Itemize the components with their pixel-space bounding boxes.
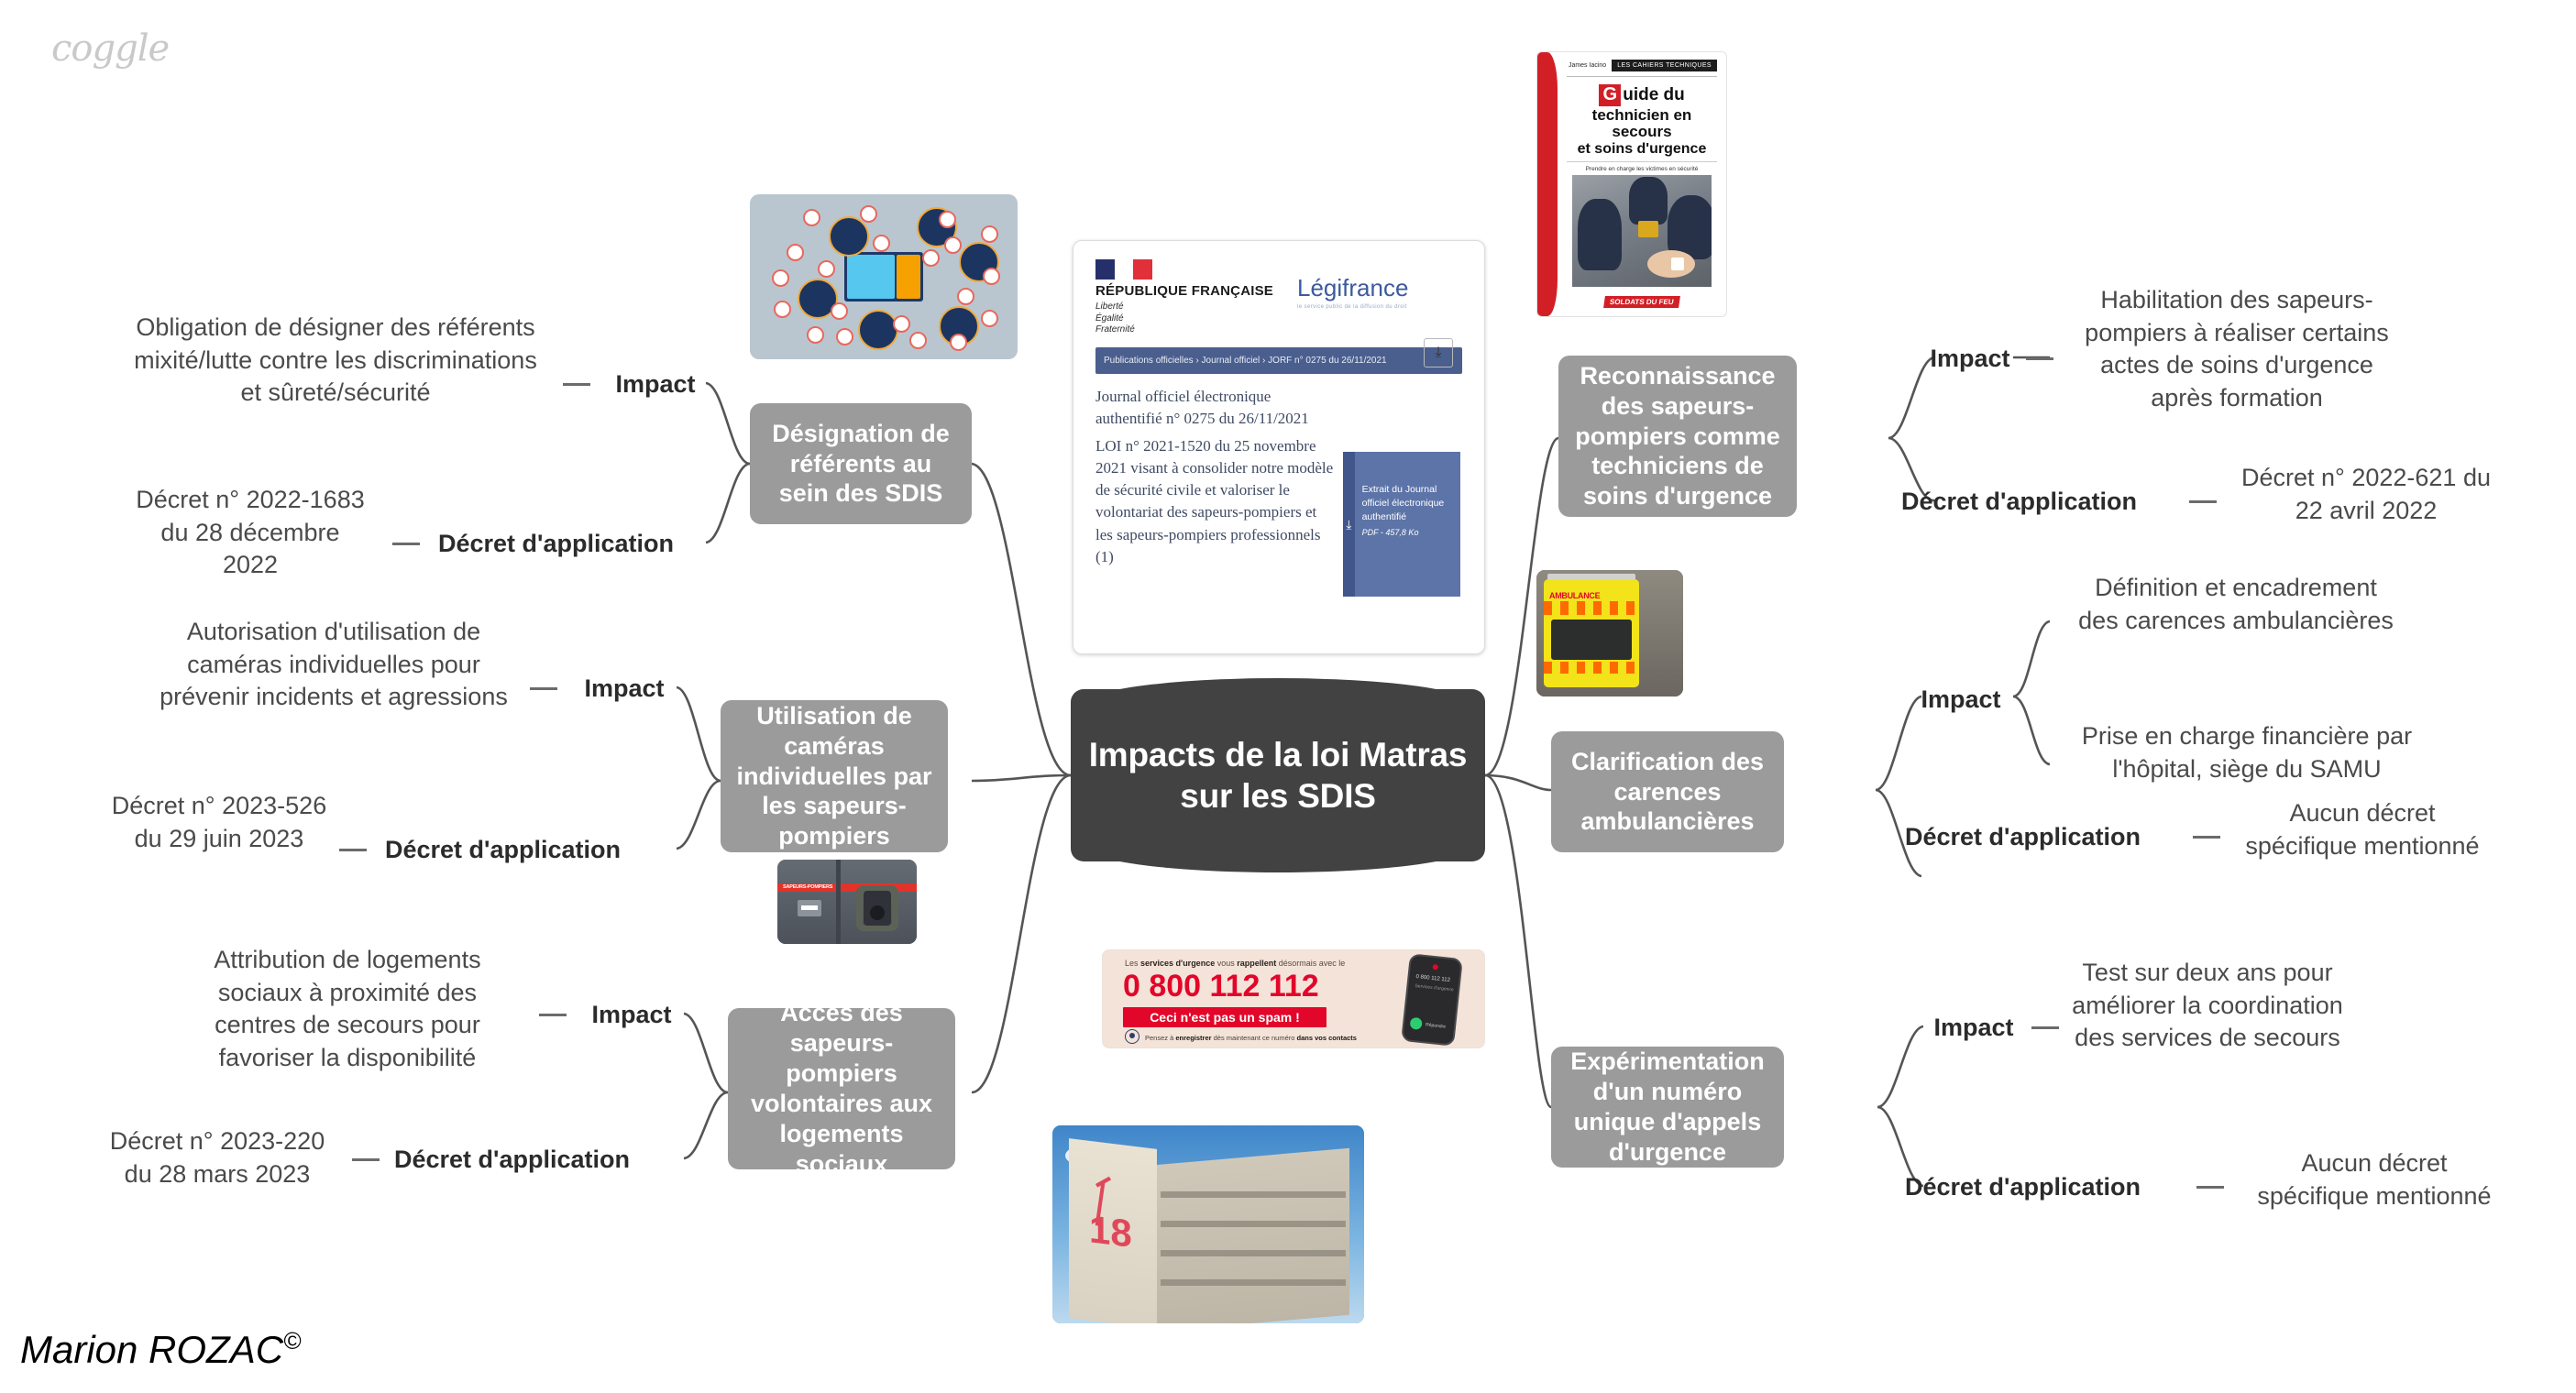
banner-note-b: enregistrer (1175, 1034, 1211, 1042)
left2-impact-dash (530, 687, 557, 690)
bodycam-image: SAPEURS-POMPIERS (777, 860, 917, 944)
topic-label: Désignation de référents au sein des SDI… (763, 419, 959, 510)
left1-decret-label-text: Décret d'application (438, 530, 674, 557)
banner-note-c: dès maintenant ce numéro (1212, 1034, 1297, 1042)
topic-designation-referents[interactable]: Désignation de référents au sein des SDI… (750, 403, 972, 524)
topic-label: Expérimentation d'un numéro unique d'app… (1564, 1047, 1771, 1168)
right3-impact-label: Impact (1923, 1012, 2024, 1045)
left2-impact-text: Autorisation d'utilisation de caméras in… (156, 616, 512, 714)
author-signature: Marion ROZAC© (20, 1327, 301, 1372)
right1-decret-dash (2189, 500, 2217, 503)
left1-decret-dash (392, 543, 420, 545)
banner-top-text: Les services d'urgence vous rappellent d… (1125, 959, 1345, 968)
right2-impact-text-1-value: Définition et encadrement des carences a… (2078, 574, 2394, 634)
right3-decret-label: Décret d'application (1905, 1171, 2180, 1204)
book-title-line2: technicien en secours (1567, 107, 1717, 141)
banner-phone-number: 0 800 112 112 (1123, 969, 1319, 1004)
banner-note: Pensez à enregistrer dès maintenant ce n… (1145, 1034, 1357, 1042)
pdf-download-card[interactable]: ⤓ Extrait du Journal officiel électroniq… (1343, 452, 1460, 597)
banner-top-c: vous (1215, 959, 1237, 968)
ambulance-image: AMBULANCE (1536, 570, 1683, 696)
left3-decret-dash (352, 1158, 380, 1161)
right3-decret-dash (2196, 1186, 2224, 1189)
devise-label: Liberté Égalité Fraternité (1095, 302, 1273, 336)
left2-decret-label: Décret d'application (385, 834, 660, 867)
right1-impact-text: Habilitation des sapeurs-pompiers à réal… (2066, 284, 2407, 415)
book-title-initial: G (1599, 84, 1621, 106)
banner-top-e: désormais avec le (1276, 959, 1345, 968)
right2-impact-text-1: Définition et encadrement des carences a… (2072, 572, 2400, 637)
left1-decret-text: Décret n° 2022-1683 du 28 décembre 2022 (130, 484, 370, 582)
right3-decret-label-text: Décret d'application (1905, 1173, 2141, 1201)
banner-top-d: rappellent (1237, 959, 1276, 968)
left3-decret-label-text: Décret d'application (394, 1146, 630, 1173)
banner-top-b: services d'urgence (1140, 959, 1215, 968)
central-node-label: Impacts de la loi Matras sur les SDIS (1071, 734, 1485, 817)
book-cover-image: James Iacino LES CAHIERS TECHNIQUES G ui… (1536, 51, 1727, 317)
bodycam-word: SAPEURS-POMPIERS (783, 884, 832, 890)
right3-decret-text-value: Aucun décret spécifique mentionné (2257, 1149, 2491, 1210)
left2-decret-label-text: Décret d'application (385, 836, 621, 863)
answer-call-icon (1410, 1017, 1423, 1030)
left1-decret-label: Décret d'application (438, 528, 706, 561)
central-node[interactable]: Impacts de la loi Matras sur les SDIS (1071, 689, 1485, 861)
topic-numero-unique-urgence[interactable]: Expérimentation d'un numéro unique d'app… (1551, 1047, 1784, 1168)
coggle-logo: coggle (51, 27, 169, 70)
book-collection: LES CAHIERS TECHNIQUES (1612, 60, 1717, 71)
left3-decret-label: Décret d'application (394, 1144, 669, 1177)
banner-spam-badge: Ceci n'est pas un spam ! (1123, 1007, 1327, 1027)
left2-impact-label: Impact (574, 673, 675, 706)
topic-label: Accès des sapeurs-pompiers volontaires a… (741, 998, 942, 1179)
left1-impact-text-value: Obligation de désigner des référents mix… (134, 313, 537, 406)
building-number: 18 (1089, 1207, 1132, 1256)
republic-label: RÉPUBLIQUE FRANÇAISE (1095, 283, 1273, 299)
french-flag-icon (1095, 259, 1152, 280)
book-title-line1: uide du (1623, 86, 1685, 105)
left3-decret-text-value: Décret n° 2023-220 du 28 mars 2023 (110, 1127, 325, 1188)
mindmap-canvas: coggle Marion ROZAC© Impacts de la loi M… (0, 0, 2576, 1393)
right1-decret-label-text: Décret d'application (1901, 488, 2137, 515)
topic-techniciens-soins-urgence[interactable]: Reconnaissance des sapeurs-pompiers comm… (1558, 356, 1797, 517)
right2-decret-label-text: Décret d'application (1905, 823, 2141, 850)
banner-112-image: Les services d'urgence vous rappellent d… (1102, 949, 1485, 1048)
right2-impact-text-2: Prise en charge financière par l'hôpital… (2063, 720, 2431, 785)
topic-label: Reconnaissance des sapeurs-pompiers comm… (1571, 361, 1784, 512)
legifrance-screenshot: RÉPUBLIQUE FRANÇAISE Liberté Égalité Fra… (1073, 240, 1485, 654)
left1-impact-text: Obligation de désigner des référents mix… (132, 312, 539, 410)
right1-decret-text: Décret n° 2022-621 du 22 avril 2022 (2231, 462, 2501, 527)
left3-impact-label: Impact (581, 999, 682, 1032)
legifrance-brand-text: Légifrance (1297, 274, 1408, 302)
book-author: James Iacino (1569, 62, 1606, 69)
phone-caption: Services d'urgence (1415, 983, 1454, 993)
right2-impact-text-2-value: Prise en charge financière par l'hôpital… (2082, 722, 2412, 783)
left2-impact-text-value: Autorisation d'utilisation de caméras in… (160, 618, 508, 710)
book-spine (1537, 52, 1558, 316)
right1-decret-label: Décret d'application (1901, 486, 2176, 519)
pdf-download-icon: ⤓ (1343, 452, 1355, 597)
book-photo (1572, 175, 1712, 287)
topic-label: Clarification des carences ambulancières (1564, 747, 1771, 838)
left3-impact-dash (539, 1014, 567, 1016)
breadcrumb: Publications officielles › Journal offic… (1095, 347, 1462, 374)
book-publisher: SOLDATS DU FEU (1603, 296, 1679, 308)
left2-decret-dash (339, 849, 367, 851)
banner-note-d: dans vos contacts (1297, 1034, 1357, 1042)
right3-impact-label-text: Impact (1933, 1014, 2013, 1041)
author-name: Marion ROZAC (20, 1328, 283, 1371)
topic-carences-ambulancieres[interactable]: Clarification des carences ambulancières (1551, 731, 1784, 852)
right1-impact-label-text: Impact (1930, 345, 2009, 372)
phone-mockup: 0 800 112 112 Services d'urgence Répondr… (1401, 953, 1463, 1047)
right2-decret-dash (2193, 836, 2220, 839)
left2-decret-text: Décret n° 2023-526 du 29 juin 2023 (108, 790, 330, 855)
ambulance-word: AMBULANCE (1549, 591, 1600, 600)
topic-logements-sociaux[interactable]: Accès des sapeurs-pompiers volontaires a… (728, 1008, 955, 1169)
right1-impact-label: Impact (1920, 343, 2020, 376)
left1-impact-label: Impact (605, 368, 706, 401)
left3-decret-text: Décret n° 2023-220 du 28 mars 2023 (95, 1125, 339, 1190)
left2-decret-text-value: Décret n° 2023-526 du 29 juin 2023 (112, 792, 326, 852)
right3-impact-text-value: Test sur deux ans pour améliorer la coor… (2072, 959, 2343, 1051)
legifrance-brand-subtitle: le service public de la diffusion du dro… (1297, 304, 1408, 310)
legifrance-brand: Légifrance le service public de la diffu… (1297, 274, 1408, 310)
pdf-meta: PDF - 457,8 Ko (1362, 527, 1455, 539)
building-image: 18 (1052, 1125, 1364, 1323)
right3-impact-text: Test sur deux ans pour améliorer la coor… (2070, 957, 2345, 1055)
left1-decret-text-value: Décret n° 2022-1683 du 28 décembre 2022 (136, 486, 364, 578)
topic-label: Utilisation de caméras individuelles par… (733, 701, 935, 852)
screen-icon (844, 252, 923, 302)
left1-impact-label-text: Impact (615, 370, 695, 398)
left3-impact-text: Attribution de logements sociaux à proxi… (174, 944, 521, 1075)
answer-call-label: Répondre (1426, 1022, 1446, 1029)
right1-impact-text-value: Habilitation des sapeurs-pompiers à réal… (2085, 286, 2389, 411)
right2-impact-label-text: Impact (1921, 686, 2000, 713)
right3-decret-text: Aucun décret spécifique mentionné (2246, 1147, 2503, 1212)
book-subtitle: Prendre en charge les victimes en sécuri… (1567, 161, 1717, 172)
right3-impact-dash (2031, 1026, 2059, 1029)
banner-top-a: Les (1125, 959, 1140, 968)
topic-cameras-individuelles[interactable]: Utilisation de caméras individuelles par… (721, 700, 948, 852)
journal-officiel-body: LOI n° 2021-1520 du 25 novembre 2021 vis… (1095, 435, 1336, 568)
book-title-line3: et soins d'urgence (1567, 141, 1717, 157)
phone-number-display: 0 800 112 112 (1415, 974, 1450, 983)
right2-impact-label: Impact (1910, 684, 2011, 717)
right1-impact-dash (2026, 357, 2053, 360)
copyright-symbol: © (283, 1327, 301, 1355)
left2-impact-label-text: Impact (584, 675, 664, 702)
right2-decret-label: Décret d'application (1905, 821, 2180, 854)
right1-decret-text-value: Décret n° 2022-621 du 22 avril 2022 (2241, 464, 2491, 524)
journal-officiel-title: Journal officiel électronique authentifi… (1095, 386, 1336, 430)
pdf-label: Extrait du Journal officiel électronique… (1362, 484, 1445, 522)
banner-note-a: Pensez à (1145, 1034, 1175, 1042)
left3-impact-text-value: Attribution de logements sociaux à proxi… (214, 946, 480, 1071)
contact-avatar-icon (1125, 1029, 1139, 1044)
network-illustration-image (750, 194, 1018, 359)
left3-impact-label-text: Impact (591, 1001, 671, 1028)
right2-decret-text-value: Aucun décret spécifique mentionné (2245, 799, 2479, 860)
right2-decret-text: Aucun décret spécifique mentionné (2231, 797, 2493, 862)
download-icon[interactable]: ⤓ (1424, 338, 1453, 367)
left1-impact-dash (563, 383, 590, 386)
